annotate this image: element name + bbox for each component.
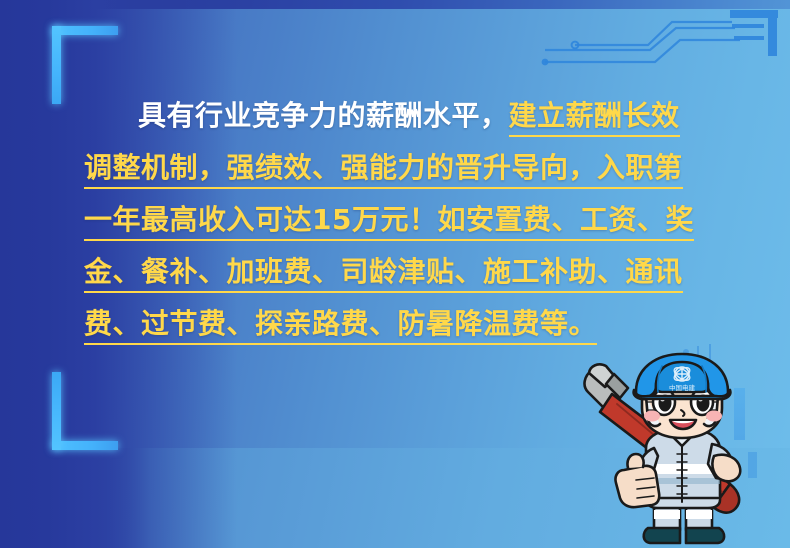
text-line-4: 金、餐补、加班费、司龄津贴、施工补助、通讯 [84,246,724,298]
text-segment-highlight: 金、餐补、加班费、司龄津贴、施工补助、通讯 [84,255,683,293]
text-line-1: 具有行业竞争力的薪酬水平，建立薪酬长效 [84,90,724,142]
poster-root: 具有行业竞争力的薪酬水平，建立薪酬长效 调整机制，强绩效、强能力的晋升导向，入职… [0,0,790,548]
bottom-left-frame-wedge [0,448,150,548]
circuit-lines-top-right-icon [520,0,790,92]
boot-right [686,528,724,543]
boot-left [644,528,680,543]
text-segment-highlight: 调整机制，强绩效、强能力的晋升导向，入职第 [84,151,683,189]
text-line-3: 一年最高收入可达15万元！如安置费、工资、奖 [84,194,724,246]
text-segment-plain: 具有行业竞争力的薪酬水平， [138,99,509,132]
text-segment-highlight: 一年最高收入可达15万元！如安置费、工资、奖 [84,203,694,241]
helmet-logo-text: 中国电建 [669,383,696,392]
text-segment-highlight: 建立薪酬长效 [509,99,680,137]
construction-worker-mascot: 中国电建 [562,352,790,548]
text-line-5: 费、过节费、探亲路费、防暑降温费等。 [84,298,724,350]
text-line-2: 调整机制，强绩效、强能力的晋升导向，入职第 [84,142,724,194]
text-segment-highlight: 费、过节费、探亲路费、防暑降温费等。 [84,307,597,345]
promo-text-block: 具有行业竞争力的薪酬水平，建立薪酬长效 调整机制，强绩效、强能力的晋升导向，入职… [84,90,724,350]
helmet-logo-icon [672,365,692,383]
hand-right [712,455,740,482]
